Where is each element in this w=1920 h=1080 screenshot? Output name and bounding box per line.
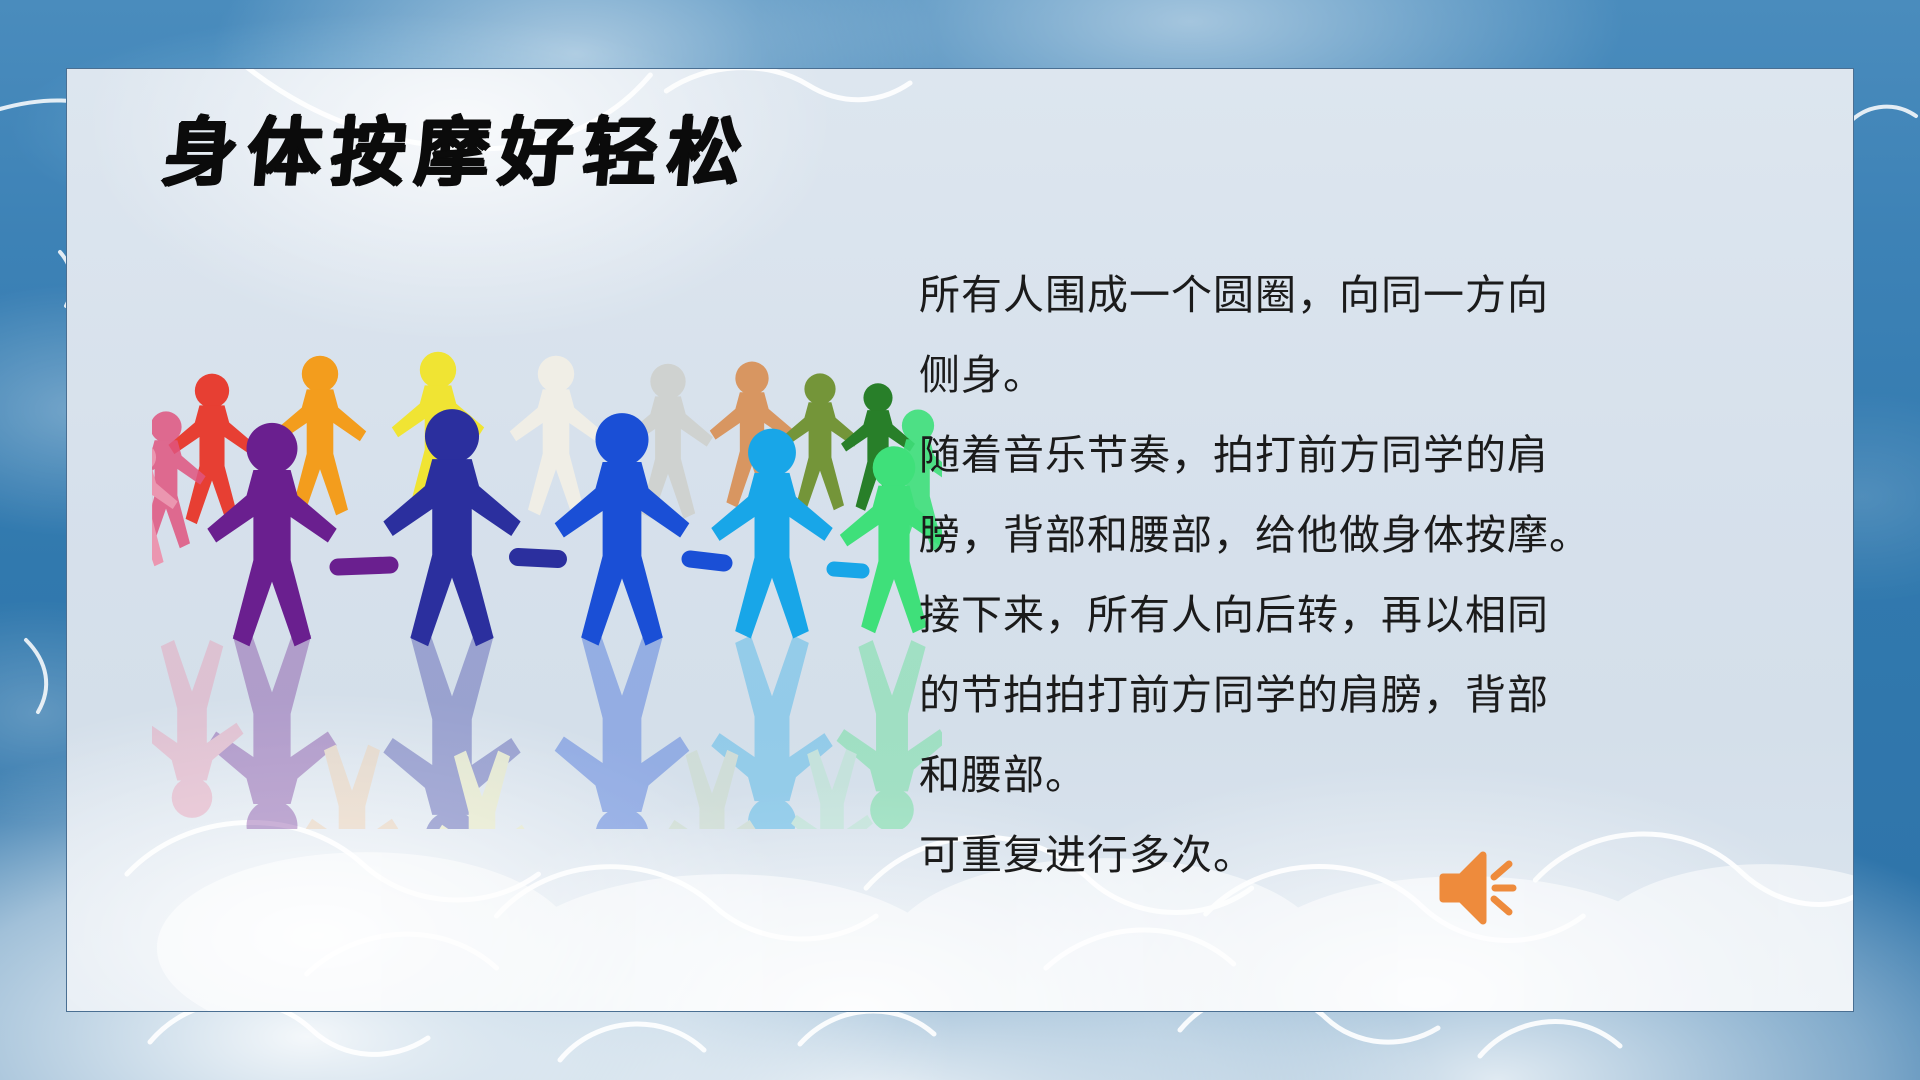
instruction-line: 的节拍拍打前方同学的肩膀，背部 bbox=[919, 655, 1779, 735]
instruction-line: 侧身。 bbox=[919, 335, 1779, 415]
speaker-icon[interactable] bbox=[1439, 851, 1519, 925]
instruction-line: 可重复进行多次。 bbox=[919, 815, 1779, 895]
instruction-line: 接下来，所有人向后转，再以相同 bbox=[919, 575, 1779, 655]
instruction-line: 随着音乐节奏，拍打前方同学的肩 bbox=[919, 415, 1779, 495]
instruction-line: 膀，背部和腰部，给他做身体按摩。 bbox=[919, 495, 1779, 575]
instruction-text: 所有人围成一个圆圈，向同一方向 侧身。 随着音乐节奏，拍打前方同学的肩 膀，背部… bbox=[919, 255, 1779, 895]
content-panel: 身体按摩好轻松 bbox=[66, 68, 1854, 1012]
slide-root: 身体按摩好轻松 bbox=[0, 0, 1920, 1080]
people-holding-hands-illustration bbox=[152, 319, 942, 829]
page-title: 身体按摩好轻松 bbox=[160, 116, 754, 190]
instruction-line: 所有人围成一个圆圈，向同一方向 bbox=[919, 255, 1779, 335]
instruction-line: 和腰部。 bbox=[919, 735, 1779, 815]
